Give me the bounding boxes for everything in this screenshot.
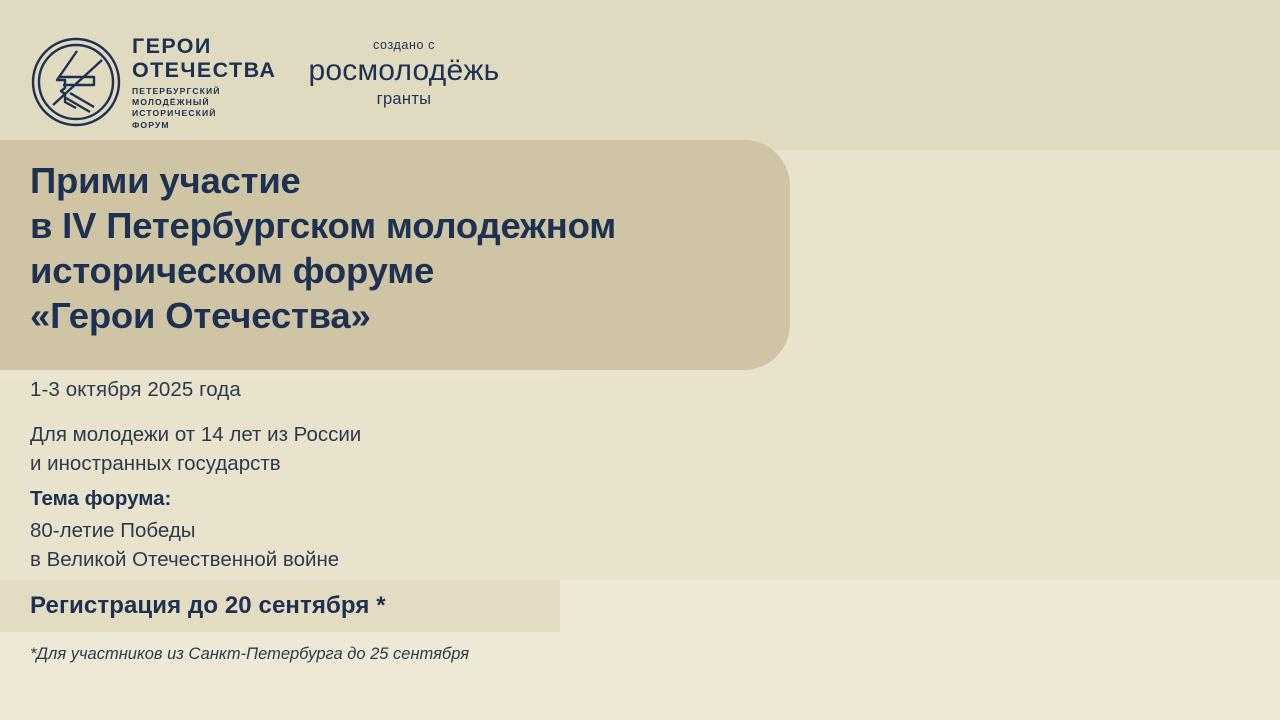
eagle-head-left <box>867 264 880 277</box>
flag-folds <box>805 55 985 143</box>
column-capital <box>1194 359 1264 385</box>
eagle-crown-center <box>876 252 890 263</box>
page-title: Прими участие в IV Петербургском молодеж… <box>30 158 790 338</box>
forum-logo-name: ГЕРОИ ОТЕЧЕСТВА <box>132 34 276 82</box>
theme-line-1: 80-летие Победы <box>30 516 339 545</box>
headline-line-2: в IV Петербургском молодежном <box>30 203 790 248</box>
registration-deadline: Регистрация до 20 сентября * <box>30 592 386 620</box>
poster-canvas: ГЕРОИ ОТЕЧЕСТВА ПЕТЕРБУРГСКИЙ МОЛОДЁЖНЫЙ… <box>0 0 1280 720</box>
forum-logo-subtitle: ПЕТЕРБУРГСКИЙ МОЛОДЁЖНЫЙ ИСТОРИЧЕСКИЙ ФО… <box>132 86 221 131</box>
theme-line-2: в Великой Отечественной войне <box>30 545 339 574</box>
theme-value: 80-летие Победы в Великой Отечественной … <box>30 516 339 574</box>
column <box>1203 381 1255 651</box>
column-capital <box>879 359 949 385</box>
eagle-crown-left <box>865 256 876 265</box>
audience-line-2: и иностранных государств <box>30 449 361 478</box>
partner-name: росмолодёжь <box>284 53 524 89</box>
forum-logo-subtitle-line4: ФОРУМ <box>132 120 221 131</box>
column-capital <box>774 359 844 385</box>
target-audience: Для молодежи от 14 лет из России и иност… <box>30 420 361 478</box>
column <box>783 381 835 651</box>
column <box>888 381 940 651</box>
forum-logo-name-line2: ОТЕЧЕСТВА <box>132 58 276 82</box>
partner-logo-rosmolodezh[interactable]: создано с росмолодёжь гранты <box>284 38 524 109</box>
forum-logo-name-line1: ГЕРОИ <box>132 34 276 58</box>
headline-line-4: «Герои Отечества» <box>30 293 790 338</box>
column-capital <box>984 359 1054 385</box>
eagle-crown-right <box>890 256 901 265</box>
headline-line-3: историческом форуме <box>30 248 790 293</box>
pediment-scrollwork <box>1031 286 1109 303</box>
headline-line-1: Прими участие <box>30 158 790 203</box>
double-headed-eagle-icon <box>823 252 943 324</box>
forum-logo-subtitle-line2: МОЛОДЁЖНЫЙ <box>132 97 221 108</box>
eagle-head-right <box>886 264 899 277</box>
forum-logo-subtitle-line1: ПЕТЕРБУРГСКИЙ <box>132 86 221 97</box>
pediment-scrollwork <box>1117 286 1187 303</box>
pediment-scrollwork <box>957 286 1023 303</box>
column-capital <box>1089 359 1159 385</box>
partner-program: гранты <box>284 90 524 109</box>
arched-opening <box>1155 669 1251 720</box>
column <box>1098 381 1150 651</box>
theme-label: Тема форума: <box>30 487 171 511</box>
partner-created-with-label: создано с <box>284 38 524 52</box>
russian-flag-icon <box>805 55 985 143</box>
column <box>993 381 1045 651</box>
forum-logo[interactable]: ГЕРОИ ОТЕЧЕСТВА ПЕТЕРБУРГСКИЙ МОЛОДЁЖНЫЙ… <box>30 28 300 138</box>
small-pediment <box>877 681 1001 720</box>
audience-line-1: Для молодежи от 14 лет из России <box>30 420 361 449</box>
small-pediment <box>1032 681 1156 720</box>
soldier-profile-circle-icon <box>30 36 122 128</box>
registration-footnote: *Для участников из Санкт-Петербурга до 2… <box>30 645 469 664</box>
forum-logo-subtitle-line3: ИСТОРИЧЕСКИЙ <box>132 108 221 119</box>
event-dates: 1-3 октября 2025 года <box>30 378 241 402</box>
